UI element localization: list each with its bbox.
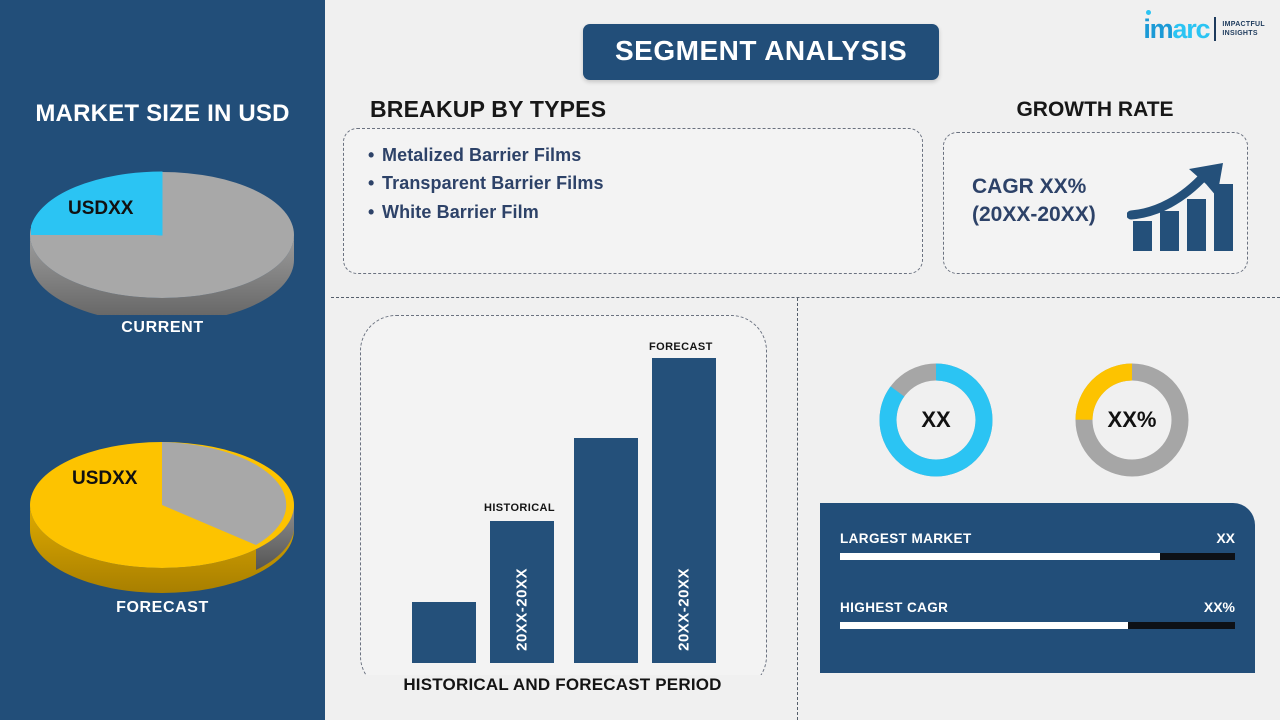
list-item: •Transparent Barrier Films — [368, 169, 604, 197]
bar-chart: 20XX-20XX HISTORICAL 20XX-20XX FORECAST — [366, 330, 761, 663]
logo-tagline: IMPACTFUL INSIGHTS — [1222, 20, 1265, 39]
growth-rate-heading: GROWTH RATE — [945, 98, 1245, 122]
growth-chart-icon — [1127, 159, 1237, 264]
sidebar-title: MARKET SIZE IN USD — [0, 100, 325, 128]
list-item-label: Transparent Barrier Films — [382, 173, 604, 193]
logo-tagline-line1: IMPACTFUL — [1222, 20, 1265, 29]
list-item-label: White Barrier Film — [382, 202, 539, 222]
stat-largest-market-label: LARGEST MARKET — [840, 531, 972, 546]
stat-highest-cagr: XX% HIGHEST CAGR — [840, 599, 1235, 629]
donut-2-value: XX% — [1072, 360, 1192, 480]
stat-highest-cagr-value: XX% — [1204, 599, 1235, 615]
pie-chart-current: USDXX CURRENT — [0, 160, 325, 337]
pie-chart-forecast: USDXX FORECAST — [0, 430, 325, 617]
bar-4-annotation: FORECAST — [649, 341, 713, 353]
pie-current-label: CURRENT — [0, 319, 325, 337]
pie-forecast-label: FORECAST — [0, 599, 325, 617]
logo-dot-icon — [1146, 10, 1151, 15]
stat-largest-market: XX LARGEST MARKET — [840, 530, 1235, 560]
stat-highest-cagr-label: HIGHEST CAGR — [840, 600, 948, 615]
types-list: •Metalized Barrier Films •Transparent Ba… — [368, 141, 604, 226]
bar-2: 20XX-20XX — [490, 521, 554, 663]
types-panel: •Metalized Barrier Films •Transparent Ba… — [343, 128, 923, 274]
cagr-text: CAGR XX% (20XX-20XX) — [972, 173, 1096, 230]
bullet-icon: • — [368, 198, 382, 226]
imarc-logo: im arc IMPACTFUL INSIGHTS — [1143, 12, 1265, 46]
stat-highest-cagr-track — [840, 622, 1235, 629]
logo-word-im: im — [1143, 16, 1172, 43]
horizontal-divider — [331, 297, 1280, 298]
growth-rate-panel: CAGR XX% (20XX-20XX) — [943, 132, 1248, 274]
infographic-root: MARKET SIZE IN USD USD — [0, 0, 1280, 720]
bar-4-label: 20XX-20XX — [676, 568, 693, 651]
logo-wordmark: im arc — [1143, 16, 1209, 43]
donut-chart-1: XX — [876, 360, 996, 480]
bar-1 — [412, 602, 476, 663]
market-size-sidebar: MARKET SIZE IN USD USD — [0, 0, 325, 720]
list-item: •White Barrier Film — [368, 198, 604, 226]
list-item: •Metalized Barrier Films — [368, 141, 604, 169]
logo-tagline-line2: INSIGHTS — [1222, 29, 1265, 38]
stats-panel: XX LARGEST MARKET XX% HIGHEST CAGR — [820, 503, 1255, 673]
logo-divider — [1214, 17, 1216, 41]
donut-1-value: XX — [876, 360, 996, 480]
vertical-divider — [797, 298, 798, 720]
logo-word-arc: arc — [1172, 16, 1209, 43]
donut-chart-2: XX% — [1072, 360, 1192, 480]
bullet-icon: • — [368, 169, 382, 197]
list-item-label: Metalized Barrier Films — [382, 145, 581, 165]
bar-4: 20XX-20XX — [652, 358, 716, 663]
types-heading: BREAKUP BY TYPES — [370, 96, 606, 123]
bar-2-annotation: HISTORICAL — [484, 502, 555, 514]
cagr-line1: CAGR XX% — [972, 173, 1096, 201]
bar-3 — [574, 438, 638, 663]
page-header: SEGMENT ANALYSIS im arc IMPACTFUL INSIGH… — [325, 0, 1280, 90]
pie-current-svg — [25, 160, 300, 315]
stat-largest-market-value: XX — [1216, 530, 1235, 546]
page-title: SEGMENT ANALYSIS — [583, 24, 939, 80]
stat-largest-market-fill — [840, 553, 1160, 560]
bullet-icon: • — [368, 141, 382, 169]
pie-forecast-svg — [25, 430, 300, 595]
bar-chart-caption: HISTORICAL AND FORECAST PERIOD — [360, 675, 765, 695]
bar-2-label: 20XX-20XX — [514, 568, 531, 651]
cagr-line2: (20XX-20XX) — [972, 201, 1096, 229]
stat-largest-market-track — [840, 553, 1235, 560]
stat-highest-cagr-fill — [840, 622, 1128, 629]
